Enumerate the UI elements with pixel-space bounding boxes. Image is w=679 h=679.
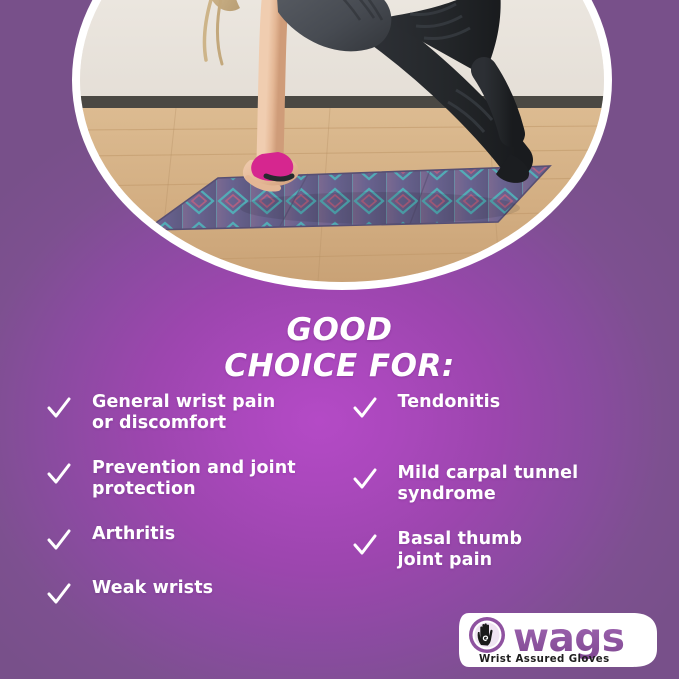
yoga-pose-illustration xyxy=(80,0,604,282)
check-icon xyxy=(46,527,72,553)
checklist-column-right: Tendonitis Mild carpal tunnel syndrome B… xyxy=(340,392,679,629)
page-title-line-1: GOOD xyxy=(0,312,679,348)
page-title-line-2: CHOICE FOR: xyxy=(0,348,679,384)
list-item-label: Weak wrists xyxy=(92,578,213,599)
checklist-column-left: General wrist pain or discomfort Prevent… xyxy=(0,392,340,629)
list-item-label: General wrist pain or discomfort xyxy=(92,392,275,434)
list-item: Mild carpal tunnel syndrome xyxy=(352,463,679,505)
list-item: Arthritis xyxy=(46,524,340,553)
check-icon xyxy=(46,581,72,607)
list-item: General wrist pain or discomfort xyxy=(46,392,340,434)
list-item-label: Mild carpal tunnel syndrome xyxy=(398,463,579,505)
list-item-label: Basal thumb joint pain xyxy=(398,529,523,571)
check-icon xyxy=(352,532,378,558)
list-item: Tendonitis xyxy=(352,392,679,421)
check-icon xyxy=(46,461,72,487)
wags-logo-graphic: wags Wrist Assured Gloves xyxy=(457,609,663,671)
check-icon xyxy=(46,395,72,421)
brand-logo: wags Wrist Assured Gloves xyxy=(457,609,663,671)
hand-spiral-icon xyxy=(469,617,505,653)
check-icon xyxy=(352,466,378,492)
list-item-label: Tendonitis xyxy=(398,392,501,413)
list-item-label: Arthritis xyxy=(92,524,175,545)
check-icon xyxy=(352,395,378,421)
page-title: GOOD CHOICE FOR: xyxy=(0,312,679,384)
list-item-label: Prevention and joint protection xyxy=(92,458,296,500)
list-item: Prevention and joint protection xyxy=(46,458,340,500)
hero-photo xyxy=(80,0,604,282)
logo-tagline: Wrist Assured Gloves xyxy=(479,654,610,665)
hero-photo-circle xyxy=(72,0,612,290)
list-item: Weak wrists xyxy=(46,578,340,607)
product-infographic-poster: GOOD CHOICE FOR: General wrist pain or d… xyxy=(0,0,679,679)
benefits-checklist: General wrist pain or discomfort Prevent… xyxy=(0,392,679,629)
list-item: Basal thumb joint pain xyxy=(352,529,679,571)
